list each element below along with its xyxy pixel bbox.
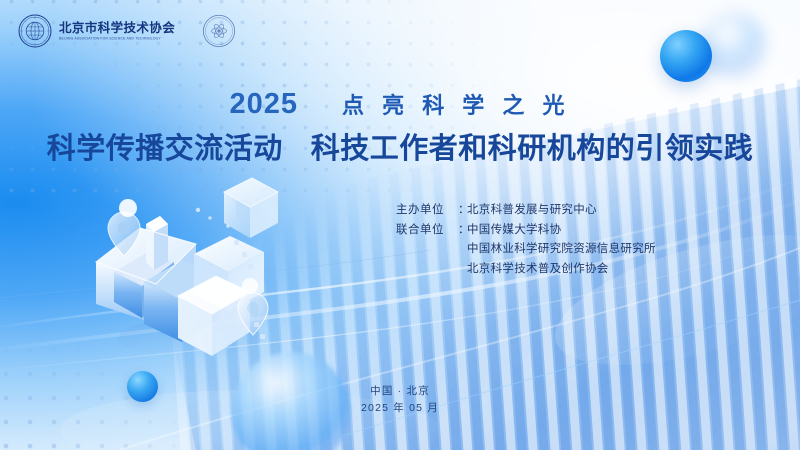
globe-emblem-icon — [18, 14, 52, 48]
title-row-top: 2025 点 亮 科 学 之 光 — [0, 88, 800, 121]
event-year: 2025 — [229, 88, 298, 121]
title-row-main: 科学传播交流活动 科技工作者和科研机构的引领实践 — [0, 125, 800, 167]
host-colon: ： — [458, 201, 467, 221]
event-title-left: 科学传播交流活动 — [47, 125, 283, 167]
joint-label: 联合单位 — [396, 221, 458, 241]
logo-beijing-association: 北京市科学技术协会 BEIJING ASSOCIATION FOR SCIENC… — [18, 14, 175, 48]
footer-location: 中国 · 北京 — [0, 383, 800, 400]
footer-date: 2025 年 05 月 — [0, 400, 800, 417]
host-value: 北京科普发展与研究中心 — [467, 201, 597, 221]
atom-emblem-icon — [202, 14, 236, 48]
joint-row: 联合单位 ： 中国传媒大学科协 — [396, 221, 656, 241]
joint-value-2: 中国林业科学研究院资源信息研究所 — [396, 240, 656, 260]
poster-canvas: 北京市科学技术协会 BEIJING ASSOCIATION FOR SCIENC… — [0, 0, 800, 450]
title-block: 2025 点 亮 科 学 之 光 科学传播交流活动 科技工作者和科研机构的引领实… — [0, 88, 800, 167]
event-title-right: 科技工作者和科研机构的引领实践 — [311, 125, 754, 167]
host-label: 主办单位 — [396, 201, 458, 221]
logo-name-cn: 北京市科学技术协会 — [59, 22, 175, 35]
event-slogan: 点 亮 科 学 之 光 — [342, 88, 571, 120]
joint-value-1: 中国传媒大学科协 — [467, 221, 561, 241]
logo-name-en: BEIJING ASSOCIATION FOR SCIENCE AND TECH… — [59, 37, 175, 41]
host-row: 主办单位 ： 北京科普发展与研究中心 — [396, 201, 656, 221]
footer-block: 中国 · 北京 2025 年 05 月 — [0, 383, 800, 417]
3d-glass-cube-illustration — [78, 166, 308, 371]
organizer-block: 主办单位 ： 北京科普发展与研究中心 联合单位 ： 中国传媒大学科协 中国林业科… — [396, 201, 656, 279]
logo-bar: 北京市科学技术协会 BEIJING ASSOCIATION FOR SCIENC… — [18, 14, 236, 48]
joint-colon: ： — [458, 221, 467, 241]
logo-text-block: 北京市科学技术协会 BEIJING ASSOCIATION FOR SCIENC… — [59, 22, 175, 40]
sphere-blue-large — [660, 30, 712, 82]
joint-value-3: 北京科学技术普及创作协会 — [396, 260, 656, 280]
